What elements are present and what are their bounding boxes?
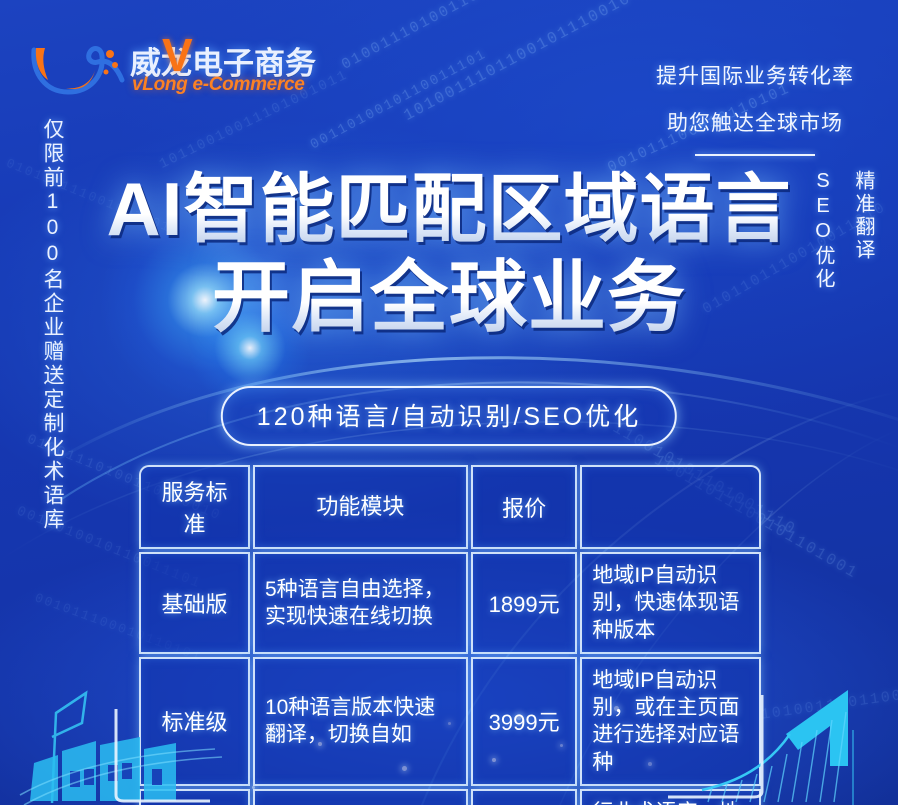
feature-label-translation: 精准翻译 (850, 170, 876, 291)
table-row: 专业级 120种全语种覆盖 9999元 行业术语库、地域IP自动识别，实时翻译质… (139, 789, 761, 805)
tagline-divider (695, 154, 815, 156)
top-right-taglines: 提升国际业务转化率 助您触达全球市场 (640, 60, 870, 156)
binary-string: 01001110100110110010 (339, 0, 541, 74)
brand-logo[interactable]: 威龙电子商务 V vLong e-Commerce (26, 36, 308, 112)
cell-tier: 标准级 (139, 657, 250, 786)
cell-notes: 地域IP自动识别，或在主页面进行选择对应语种 (580, 657, 761, 786)
cell-price: 3999元 (471, 657, 577, 786)
table-header-notes (580, 465, 761, 549)
left-vertical-promo-text: 仅限前100名企业赠送定制化术语库 (32, 118, 66, 532)
cell-features: 10种语言版本快速翻译，切换自如 (253, 657, 468, 786)
cell-notes: 地域IP自动识别，快速体现语种版本 (580, 552, 761, 654)
subtitle-pill: 120种语言/自动识别/SEO优化 (221, 386, 677, 446)
cell-price: 9999元 (471, 789, 577, 805)
logo-english-name: vLong e-Commerce (132, 74, 305, 96)
table-header-row: 服务标准 功能模块 报价 (139, 465, 761, 549)
cell-tier: 基础版 (139, 552, 250, 654)
feature-label-seo: SEO优化 (810, 170, 836, 291)
binary-string: 1010011101100101110010 (401, 0, 635, 125)
pricing-table: 服务标准 功能模块 报价 基础版 5种语言自由选择，实现快速在线切换 1899元… (136, 462, 764, 805)
headline-block: AI智能匹配区域语言 开启全球业务 (0, 168, 898, 340)
table-row: 基础版 5种语言自由选择，实现快速在线切换 1899元 地域IP自动识别，快速体… (139, 552, 761, 654)
cell-features: 5种语言自由选择，实现快速在线切换 (253, 552, 468, 654)
tagline-secondary: 助您触达全球市场 (640, 107, 870, 137)
cell-tier: 专业级 (139, 789, 250, 805)
table-header-tier: 服务标准 (139, 465, 250, 549)
binary-string: 0011010010110011101 (308, 47, 490, 154)
headline-line-1: AI智能匹配区域语言 (0, 168, 898, 251)
tagline-primary: 提升国际业务转化率 (640, 60, 870, 90)
binary-string: 0101101110010011010 (4, 156, 182, 240)
table-header-features: 功能模块 (253, 465, 468, 549)
cell-notes: 行业术语库、地域IP自动识别，实时翻译质量监控系统 (580, 789, 761, 805)
cell-price: 1899元 (471, 552, 577, 654)
swoosh-logo-icon (26, 40, 126, 102)
logo-v-overlay-icon: V (162, 32, 193, 78)
cell-features: 120种全语种覆盖 (253, 789, 468, 805)
table-row: 标准级 10种语言版本快速翻译，切换自如 3999元 地域IP自动识别，或在主页… (139, 657, 761, 786)
binary-string: 1010011101100101110010 (760, 673, 898, 724)
right-feature-labels: SEO优化 精准翻译 (810, 170, 876, 291)
promo-banner: 01001110100110110010 1010011101100101110… (0, 0, 898, 805)
headline-line-2: 开启全球业务 (0, 255, 898, 341)
table-header-price: 报价 (471, 465, 577, 549)
